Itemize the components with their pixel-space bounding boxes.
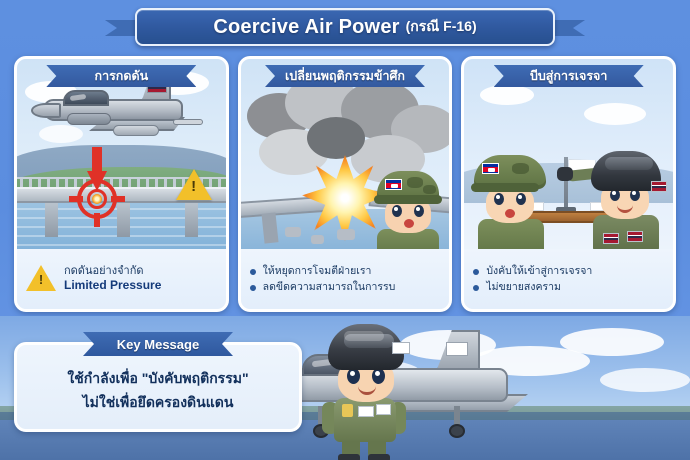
bridge-pier — [45, 203, 58, 237]
smoke-cloud — [307, 117, 365, 159]
list-item: บังคับให้เข้าสู่การเจรจา — [473, 263, 592, 279]
list-item: ลดขีดความสามารถในการรบ — [250, 279, 396, 295]
panel-1-footer: ! กดดันอย่างจำกัด Limited Pressure — [17, 249, 226, 309]
thai-flag-icon — [446, 342, 468, 356]
panel-2-footer: ให้หยุดการโจมตีฝ่ายเรา ลดขีดความสามารถใน… — [241, 249, 450, 309]
jet-missile — [173, 119, 203, 125]
key-message-heading: Key Message — [83, 332, 233, 356]
bridge-pier — [261, 212, 278, 243]
cloud-shape — [584, 103, 646, 125]
key-message-line-1: ใช้กำลังเพื่อ "บังคับพฤติกรรม" — [67, 368, 248, 390]
infographic-root: Coercive Air Power (กรณี F-16) การกดดัน — [0, 0, 690, 460]
key-message-card: Key Message ใช้กำลังเพื่อ "บังคับพฤติกรร… — [14, 342, 302, 432]
rubble-shape — [311, 235, 324, 244]
mouth-shape — [358, 386, 376, 395]
eye-shape — [392, 205, 402, 217]
key-message-line-2: ไม่ใช่เพื่อยึดครองดินแดน — [83, 392, 234, 414]
thai-flag-icon — [392, 342, 410, 354]
panel-1-heading-text: การกดดัน — [95, 66, 149, 86]
landing-wheel — [449, 424, 465, 438]
eye-shape — [494, 193, 504, 205]
chibi-pilot-thailand — [316, 324, 412, 456]
key-message-heading-text: Key Message — [117, 337, 199, 352]
panel-3-heading: บีบสู่การเจรจา — [494, 65, 644, 87]
panel-force-negotiation: บีบสู่การเจรจา — [461, 56, 676, 312]
panel-2-bullet-list: ให้หยุดการโจมตีฝ่ายเรา ลดขีดความสามารถใน… — [250, 263, 396, 296]
bottom-section: Key Message ใช้กำลังเพื่อ "บังคับพฤติกรร… — [0, 316, 690, 460]
panel-2-heading-text: เปลี่ยนพฤติกรรมข้าศึก — [285, 66, 405, 86]
eye-shape — [516, 193, 526, 205]
cambodia-flag-icon — [482, 163, 499, 174]
flag-pole — [564, 157, 568, 213]
pilot-boot — [338, 454, 360, 460]
soldier-helmet — [377, 171, 439, 201]
soldier-helmet — [474, 155, 546, 189]
pointing-hand-icon — [557, 167, 573, 181]
jet-fuel-tank — [113, 125, 159, 136]
mouth-shape — [617, 205, 633, 213]
helmet-visor — [344, 334, 394, 348]
jet-canopy — [63, 90, 109, 106]
crosshair-target-icon — [69, 171, 125, 227]
limited-pressure-note: ! กดดันอย่างจำกัด Limited Pressure — [26, 264, 161, 294]
panel-3-heading-text: บีบสู่การเจรจา — [530, 66, 607, 86]
cloud-shape — [600, 368, 690, 392]
panel-2-heading: เปลี่ยนพฤติกรรมข้าศึก — [265, 65, 425, 87]
chibi-soldier-cambodia — [371, 171, 445, 255]
list-item: ไม่ขยายสงคราม — [473, 279, 592, 295]
warning-triangle-icon: ! — [176, 169, 212, 201]
thai-flag-icon — [627, 231, 643, 242]
mouth-shape — [505, 209, 515, 218]
eye-shape — [347, 368, 360, 384]
panel-pressure: การกดดัน — [14, 56, 229, 312]
cloud-shape — [560, 328, 664, 356]
mouth-shape — [404, 219, 414, 228]
title-banner-group: Coercive Air Power (กรณี F-16) — [0, 4, 690, 48]
panel-2-illustration — [241, 59, 450, 255]
thai-flag-icon — [603, 233, 619, 244]
title-text-en: Coercive Air Power — [213, 16, 399, 39]
chibi-soldier-cambodia — [468, 155, 552, 255]
helmet-visor — [605, 157, 653, 170]
panel-row: การกดดัน — [14, 56, 676, 312]
eye-shape — [414, 205, 424, 217]
eye-shape — [372, 368, 385, 384]
panel-3-footer: บังคับให้เข้าสู่การเจรจา ไม่ขยายสงคราม — [464, 249, 673, 309]
thai-flag-icon — [358, 406, 374, 417]
list-item: ให้หยุดการโจมตีฝ่ายเรา — [250, 263, 396, 279]
panel-1-illustration: ! — [17, 59, 226, 255]
panel-3-illustration — [464, 59, 673, 255]
panel-1-heading: การกดดัน — [46, 65, 196, 87]
pilot-boot — [368, 454, 390, 460]
jet-intake — [67, 113, 111, 125]
rubble-shape — [285, 227, 301, 237]
title-text-th: (กรณี F-16) — [406, 16, 477, 38]
rank-badge-icon — [342, 404, 353, 417]
page-title: Coercive Air Power (กรณี F-16) — [135, 8, 555, 46]
cloud-shape — [480, 85, 534, 105]
thai-flag-icon — [651, 181, 667, 192]
bridge-pier — [185, 203, 198, 237]
footer-line-th: กดดันอย่างจำกัด — [64, 264, 161, 278]
cambodia-flag-icon — [385, 179, 402, 190]
thai-flag-icon — [376, 404, 391, 415]
rubble-shape — [337, 229, 355, 240]
warning-triangle-icon: ! — [26, 265, 56, 292]
chibi-pilot-thailand — [583, 151, 671, 255]
panel-3-bullet-list: บังคับให้เข้าสู่การเจรจา ไม่ขยายสงคราม — [473, 263, 592, 296]
footer-line-en: Limited Pressure — [64, 278, 161, 294]
jet-nose — [31, 103, 61, 118]
panel-behavior-change: เปลี่ยนพฤติกรรมข้าศึก — [238, 56, 453, 312]
